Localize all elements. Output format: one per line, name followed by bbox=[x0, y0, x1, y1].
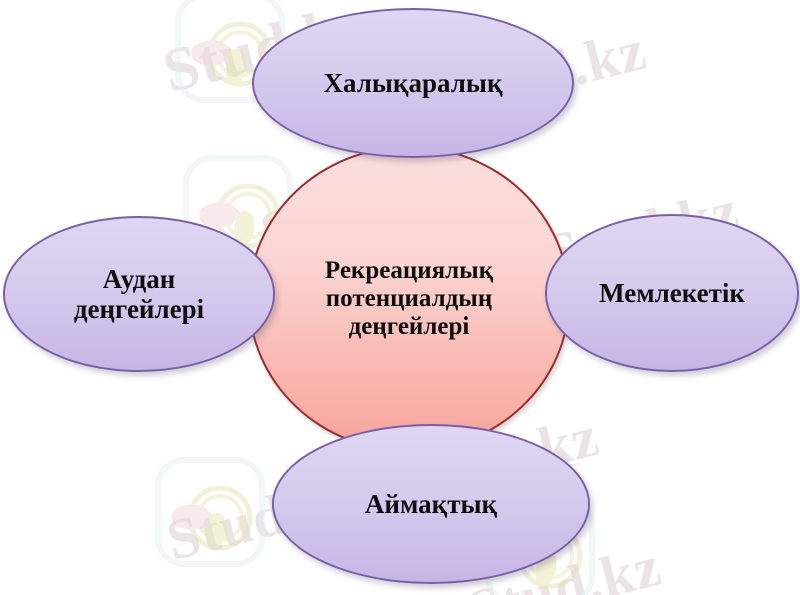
diagram-canvas: Stud.kzStud.kzStud.kzStud.kzStud.kzStud.… bbox=[0, 0, 800, 595]
watermark-logo-icon bbox=[150, 452, 270, 572]
node-bottom: Аймақтық bbox=[272, 424, 590, 584]
center-node: Рекреациялық потенциалдың деңгейлері bbox=[248, 146, 570, 452]
node-top: Халықаралық bbox=[252, 8, 574, 158]
node-left: Аудан деңгейлері bbox=[3, 216, 275, 372]
node-right-label: Мемлекетік bbox=[599, 278, 745, 308]
node-bottom-label: Аймақтық bbox=[365, 489, 497, 519]
node-left-label: Аудан деңгейлері bbox=[74, 264, 204, 324]
center-node-label: Рекреациялық потенциалдың деңгейлері bbox=[325, 257, 493, 341]
node-right: Мемлекетік bbox=[545, 214, 799, 372]
node-top-label: Халықаралық bbox=[323, 68, 502, 98]
